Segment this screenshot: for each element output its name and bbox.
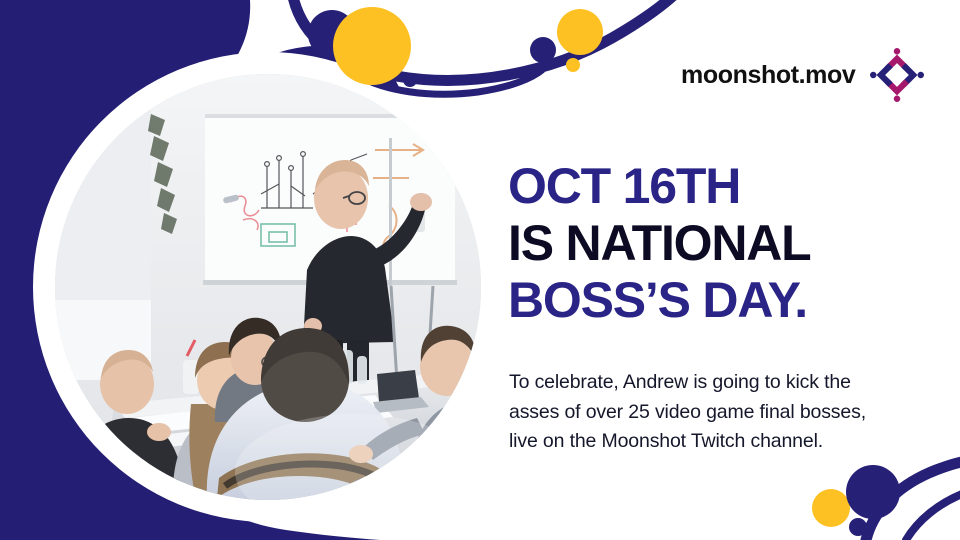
yellow-circle-large-top <box>333 7 411 85</box>
navy-arc-top-outer <box>292 0 690 80</box>
navy-circle-bottom-right <box>846 465 900 519</box>
moonshot-logo-mark <box>870 48 924 102</box>
brand-wordmark: moonshot.mov <box>681 63 855 88</box>
yellow-circle-bottom-right <box>812 489 850 527</box>
navy-circle-top <box>308 10 356 58</box>
yellow-dot-top-right <box>566 58 580 72</box>
brand-lockup[interactable]: moonshot.mov <box>681 48 924 102</box>
headline-line-2: IS NATIONAL <box>508 215 928 272</box>
yellow-circle-top-right <box>557 9 603 55</box>
body-copy: To celebrate, Andrew is going to kick th… <box>509 368 909 457</box>
poster-canvas: moonshot.mov OCT 16TH IS NATIONAL BOSS’S… <box>0 0 960 540</box>
navy-arc-bottom-inner <box>906 494 960 540</box>
navy-dot-small-top <box>403 73 417 87</box>
body-line-3: live on the Moonshot Twitch channel. <box>509 427 909 457</box>
meeting-photo <box>55 74 481 500</box>
page-title: OCT 16TH IS NATIONAL BOSS’S DAY. <box>508 158 928 329</box>
headline-line-1: OCT 16TH <box>508 158 928 215</box>
navy-arc-bottom-outer <box>866 460 960 540</box>
navy-dot-bottom-right <box>849 518 867 536</box>
meeting-photo-illustration <box>55 74 481 500</box>
navy-arc-top-inner <box>352 70 542 94</box>
headline-line-3: BOSS’S DAY. <box>508 272 928 329</box>
body-line-1: To celebrate, Andrew is going to kick th… <box>509 368 909 398</box>
body-line-2: asses of over 25 video game final bosses… <box>509 398 909 428</box>
navy-dot-top-right <box>530 37 556 63</box>
